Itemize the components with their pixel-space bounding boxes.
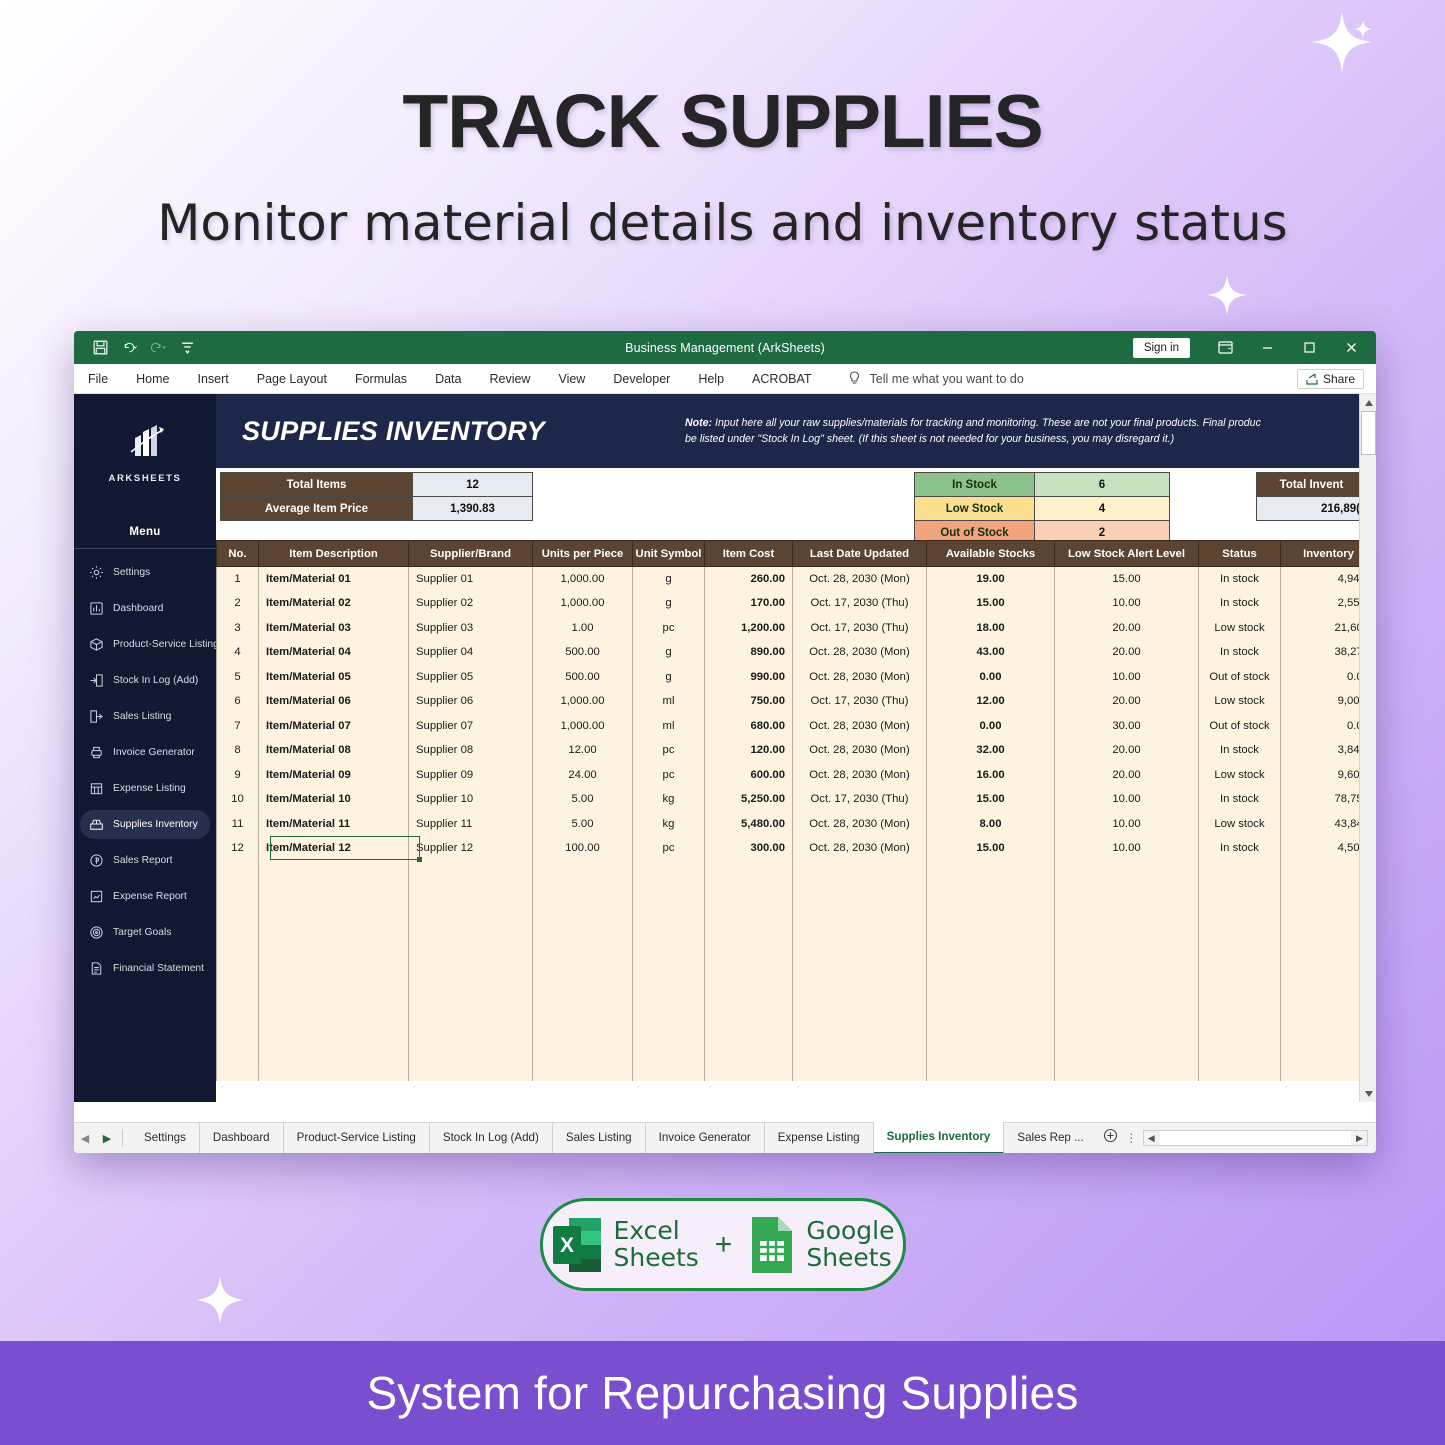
cell-item-description[interactable]: Item/Material 08 <box>259 738 409 763</box>
ribbon-tab-data[interactable]: Data <box>421 364 475 394</box>
cell-empty[interactable] <box>1199 861 1281 886</box>
cell-item-description[interactable]: Item/Material 02 <box>259 591 409 616</box>
sidebar-item-supplies-inventory[interactable]: Supplies Inventory <box>80 810 210 839</box>
cell-supplier[interactable]: Supplier 10 <box>409 787 533 812</box>
cell-status[interactable]: In stock <box>1199 738 1281 763</box>
cell-last-date-updated[interactable]: Oct. 28, 2030 (Mon) <box>793 640 927 665</box>
cell-empty[interactable] <box>1199 959 1281 984</box>
ribbon-tab-page-layout[interactable]: Page Layout <box>243 364 341 394</box>
cell-supplier[interactable]: Supplier 03 <box>409 616 533 641</box>
sheet-tab-stock-in-log[interactable]: Stock In Log (Add) <box>430 1123 553 1153</box>
cell-item-description[interactable]: Item/Material 11 <box>259 812 409 837</box>
table-row-empty[interactable] <box>217 1057 1377 1082</box>
col-header-supplier[interactable]: Supplier/Brand <box>409 541 533 567</box>
cell-empty[interactable] <box>217 1057 259 1082</box>
cell-empty[interactable] <box>409 861 533 886</box>
cell-item-cost[interactable]: 750.00 <box>705 689 793 714</box>
col-header-last-date-updated[interactable]: Last Date Updated <box>793 541 927 567</box>
cell-empty[interactable] <box>1199 1008 1281 1033</box>
cell-empty[interactable] <box>217 934 259 959</box>
sheet-tab-dashboard[interactable]: Dashboard <box>200 1123 284 1153</box>
sidebar-item-invoice-generator[interactable]: Invoice Generator <box>80 738 210 767</box>
cell-item-cost[interactable]: 5,480.00 <box>705 812 793 837</box>
sidebar-item-target-goals[interactable]: Target Goals <box>80 918 210 947</box>
spreadsheet-grid[interactable]: No. Item Description Supplier/Brand Unit… <box>216 540 1376 1102</box>
ribbon-tab-insert[interactable]: Insert <box>184 364 243 394</box>
table-row[interactable]: 9Item/Material 09Supplier 0924.00pc600.0… <box>217 763 1377 788</box>
cell-units-per-piece[interactable]: 100.00 <box>533 836 633 861</box>
cell-empty[interactable] <box>1055 910 1199 935</box>
cell-last-date-updated[interactable]: Oct. 28, 2030 (Mon) <box>793 836 927 861</box>
cell-last-date-updated[interactable]: Oct. 28, 2030 (Mon) <box>793 812 927 837</box>
cell-last-date-updated[interactable]: Oct. 28, 2030 (Mon) <box>793 738 927 763</box>
cell-supplier[interactable]: Supplier 09 <box>409 763 533 788</box>
cell-no[interactable]: 8 <box>217 738 259 763</box>
cell-item-cost[interactable]: 300.00 <box>705 836 793 861</box>
cell-empty[interactable] <box>927 885 1055 910</box>
sidebar-item-financial-statement[interactable]: Financial Statement <box>80 954 210 983</box>
cell-no[interactable]: 1 <box>217 567 259 592</box>
cell-unit-symbol[interactable]: pc <box>633 738 705 763</box>
cell-units-per-piece[interactable]: 1,000.00 <box>533 567 633 592</box>
cell-unit-symbol[interactable]: ml <box>633 689 705 714</box>
table-row-empty[interactable] <box>217 910 1377 935</box>
cell-empty[interactable] <box>217 1032 259 1057</box>
sheet-tab-invoice-generator[interactable]: Invoice Generator <box>646 1123 765 1153</box>
col-header-units-per-piece[interactable]: Units per Piece <box>533 541 633 567</box>
ribbon-tab-acrobat[interactable]: ACROBAT <box>738 364 826 394</box>
cell-supplier[interactable]: Supplier 02 <box>409 591 533 616</box>
sign-in-button[interactable]: Sign in <box>1133 338 1190 358</box>
cell-item-cost[interactable]: 600.00 <box>705 763 793 788</box>
cell-empty[interactable] <box>217 959 259 984</box>
ribbon-tab-developer[interactable]: Developer <box>599 364 684 394</box>
cell-empty[interactable] <box>259 910 409 935</box>
cell-empty[interactable] <box>793 885 927 910</box>
col-header-available-stocks[interactable]: Available Stocks <box>927 541 1055 567</box>
cell-empty[interactable] <box>1055 885 1199 910</box>
cell-low-stock-alert-level[interactable]: 10.00 <box>1055 787 1199 812</box>
cell-empty[interactable] <box>793 983 927 1008</box>
cell-units-per-piece[interactable]: 500.00 <box>533 640 633 665</box>
ribbon-tab-home[interactable]: Home <box>122 364 183 394</box>
cell-item-cost[interactable]: 1,200.00 <box>705 616 793 641</box>
minimize-button[interactable] <box>1246 331 1288 364</box>
table-row-empty[interactable] <box>217 861 1377 886</box>
sidebar-item-label: Dashboard <box>113 603 163 614</box>
col-header-no[interactable]: No. <box>217 541 259 567</box>
cell-no[interactable]: 6 <box>217 689 259 714</box>
table-row[interactable]: 1Item/Material 01Supplier 011,000.00g260… <box>217 567 1377 592</box>
cell-item-description[interactable]: Item/Material 04 <box>259 640 409 665</box>
cell-empty[interactable] <box>633 959 705 984</box>
ribbon-tab-help[interactable]: Help <box>684 364 738 394</box>
cell-empty[interactable] <box>1199 1057 1281 1082</box>
cell-item-description[interactable]: Item/Material 05 <box>259 665 409 690</box>
cell-last-date-updated[interactable]: Oct. 28, 2030 (Mon) <box>793 665 927 690</box>
table-row[interactable]: 10Item/Material 10Supplier 105.00kg5,250… <box>217 787 1377 812</box>
cell-no[interactable]: 10 <box>217 787 259 812</box>
cell-item-description[interactable]: Item/Material 01 <box>259 567 409 592</box>
cell-last-date-updated[interactable]: Oct. 17, 2030 (Thu) <box>793 616 927 641</box>
cell-units-per-piece[interactable]: 1,000.00 <box>533 591 633 616</box>
cell-item-cost[interactable]: 890.00 <box>705 640 793 665</box>
cell-item-cost[interactable]: 170.00 <box>705 591 793 616</box>
cell-status[interactable]: Low stock <box>1199 763 1281 788</box>
cell-item-cost[interactable]: 990.00 <box>705 665 793 690</box>
cell-unit-symbol[interactable]: pc <box>633 836 705 861</box>
cell-units-per-piece[interactable]: 5.00 <box>533 812 633 837</box>
table-row[interactable]: 3Item/Material 03Supplier 031.00pc1,200.… <box>217 616 1377 641</box>
cell-item-cost[interactable]: 680.00 <box>705 714 793 739</box>
cell-empty[interactable] <box>705 861 793 886</box>
table-row[interactable]: 6Item/Material 06Supplier 061,000.00ml75… <box>217 689 1377 714</box>
cell-units-per-piece[interactable]: 12.00 <box>533 738 633 763</box>
hscroll-right-button[interactable]: ▶ <box>1352 1133 1367 1144</box>
table-row[interactable]: 2Item/Material 02Supplier 021,000.00g170… <box>217 591 1377 616</box>
cell-supplier[interactable]: Supplier 11 <box>409 812 533 837</box>
cell-no[interactable]: 12 <box>217 836 259 861</box>
table-row-empty[interactable] <box>217 1008 1377 1033</box>
cell-low-stock-alert-level[interactable]: 20.00 <box>1055 738 1199 763</box>
sheet-tab-expense-listing[interactable]: Expense Listing <box>765 1123 874 1153</box>
cell-low-stock-alert-level[interactable]: 10.00 <box>1055 665 1199 690</box>
col-header-unit-symbol[interactable]: Unit Symbol <box>633 541 705 567</box>
cell-last-date-updated[interactable]: Oct. 17, 2030 (Thu) <box>793 689 927 714</box>
average-item-price-value: 1,390.83 <box>413 497 533 521</box>
cell-status[interactable]: In stock <box>1199 836 1281 861</box>
cell-available-stocks[interactable]: 0.00 <box>927 714 1055 739</box>
cell-empty[interactable] <box>633 1032 705 1057</box>
cell-empty[interactable] <box>927 1008 1055 1033</box>
scroll-down-button[interactable] <box>1360 1085 1376 1102</box>
cell-empty[interactable] <box>409 910 533 935</box>
hscroll-left-button[interactable]: ◀ <box>1144 1133 1159 1144</box>
cell-empty[interactable] <box>1055 983 1199 1008</box>
cell-available-stocks[interactable]: 32.00 <box>927 738 1055 763</box>
cell-empty[interactable] <box>1199 983 1281 1008</box>
sidebar-item-sales-listing[interactable]: Sales Listing <box>80 702 210 731</box>
cell-item-description[interactable]: Item/Material 07 <box>259 714 409 739</box>
cell-empty[interactable] <box>217 861 259 886</box>
cell-empty[interactable] <box>259 1032 409 1057</box>
close-button[interactable] <box>1330 331 1372 364</box>
cell-item-description[interactable]: Item/Material 12 <box>259 836 409 861</box>
ribbon-tab-file[interactable]: File <box>74 364 122 394</box>
cell-empty[interactable] <box>1055 934 1199 959</box>
cell-empty[interactable] <box>259 1057 409 1082</box>
sidebar-item-expense-report[interactable]: Expense Report <box>80 882 210 911</box>
cell-status[interactable]: Low stock <box>1199 689 1281 714</box>
tell-me-search[interactable]: Tell me what you want to do <box>848 371 1024 386</box>
cell-unit-symbol[interactable]: pc <box>633 616 705 641</box>
cell-empty[interactable] <box>409 1008 533 1033</box>
cell-empty[interactable] <box>1055 1008 1199 1033</box>
cell-empty[interactable] <box>927 1032 1055 1057</box>
cell-status[interactable]: In stock <box>1199 591 1281 616</box>
cell-empty[interactable] <box>793 1057 927 1082</box>
cell-empty[interactable] <box>533 910 633 935</box>
cell-last-date-updated[interactable]: Oct. 28, 2030 (Mon) <box>793 763 927 788</box>
cell-supplier[interactable]: Supplier 08 <box>409 738 533 763</box>
table-row-empty[interactable] <box>217 1032 1377 1057</box>
cell-low-stock-alert-level[interactable]: 20.00 <box>1055 689 1199 714</box>
ribbon-tab-review[interactable]: Review <box>475 364 544 394</box>
vertical-scroll-thumb[interactable] <box>1361 411 1376 455</box>
cell-available-stocks[interactable]: 12.00 <box>927 689 1055 714</box>
cell-available-stocks[interactable]: 15.00 <box>927 591 1055 616</box>
cell-empty[interactable] <box>217 1008 259 1033</box>
sheet-tab-supplies-inventory[interactable]: Supplies Inventory <box>874 1122 1005 1153</box>
cell-no[interactable]: 2 <box>217 591 259 616</box>
ribbon-tabbar: File Home Insert Page Layout Formulas Da… <box>74 364 1376 394</box>
cell-empty[interactable] <box>633 934 705 959</box>
cell-empty[interactable] <box>793 1032 927 1057</box>
cell-supplier[interactable]: Supplier 07 <box>409 714 533 739</box>
cell-status[interactable]: In stock <box>1199 640 1281 665</box>
cell-empty[interactable] <box>633 983 705 1008</box>
cell-empty[interactable] <box>705 1008 793 1033</box>
vertical-scrollbar[interactable] <box>1359 394 1376 1102</box>
cell-status[interactable]: Out of stock <box>1199 665 1281 690</box>
average-item-price-label: Average Item Price <box>221 497 413 521</box>
sheet-tab-product-service-listing[interactable]: Product-Service Listing <box>284 1123 430 1153</box>
cell-units-per-piece[interactable]: 24.00 <box>533 763 633 788</box>
cell-unit-symbol[interactable]: g <box>633 591 705 616</box>
cell-empty[interactable] <box>217 885 259 910</box>
chart-bar-icon <box>89 601 104 616</box>
sheet-tab-sales-listing[interactable]: Sales Listing <box>553 1123 646 1153</box>
cell-empty[interactable] <box>533 1032 633 1057</box>
cell-units-per-piece[interactable]: 500.00 <box>533 665 633 690</box>
table-row-empty[interactable] <box>217 885 1377 910</box>
table-row[interactable]: 4Item/Material 04Supplier 04500.00g890.0… <box>217 640 1377 665</box>
table-row[interactable]: 7Item/Material 07Supplier 071,000.00ml68… <box>217 714 1377 739</box>
cell-empty[interactable] <box>533 983 633 1008</box>
cell-empty[interactable] <box>793 861 927 886</box>
cell-empty[interactable] <box>633 861 705 886</box>
col-header-item-cost[interactable]: Item Cost <box>705 541 793 567</box>
cell-empty[interactable] <box>705 959 793 984</box>
cell-empty[interactable] <box>633 885 705 910</box>
cell-empty[interactable] <box>927 983 1055 1008</box>
ribbon-tab-formulas[interactable]: Formulas <box>341 364 421 394</box>
cell-empty[interactable] <box>705 983 793 1008</box>
cell-item-cost[interactable]: 120.00 <box>705 738 793 763</box>
cell-empty[interactable] <box>533 1057 633 1082</box>
cell-empty[interactable] <box>705 885 793 910</box>
share-button[interactable]: Share <box>1297 369 1364 389</box>
cell-low-stock-alert-level[interactable]: 10.00 <box>1055 836 1199 861</box>
cell-item-description[interactable]: Item/Material 09 <box>259 763 409 788</box>
table-row-empty[interactable] <box>217 983 1377 1008</box>
cell-item-cost[interactable]: 260.00 <box>705 567 793 592</box>
cell-available-stocks[interactable]: 43.00 <box>927 640 1055 665</box>
sheet-note: Note: Input here all your raw supplies/m… <box>685 415 1261 448</box>
cell-empty[interactable] <box>533 1008 633 1033</box>
sidebar-item-settings[interactable]: Settings <box>80 558 210 587</box>
cell-no[interactable]: 7 <box>217 714 259 739</box>
cell-last-date-updated[interactable]: Oct. 28, 2030 (Mon) <box>793 714 927 739</box>
table-row[interactable]: 8Item/Material 08Supplier 0812.00pc120.0… <box>217 738 1377 763</box>
cell-low-stock-alert-level[interactable]: 15.00 <box>1055 567 1199 592</box>
table-row[interactable]: 11Item/Material 11Supplier 115.00kg5,480… <box>217 812 1377 837</box>
cell-no[interactable]: 4 <box>217 640 259 665</box>
cell-last-date-updated[interactable]: Oct. 28, 2030 (Mon) <box>793 567 927 592</box>
table-row-empty[interactable] <box>217 959 1377 984</box>
cell-no[interactable]: 5 <box>217 665 259 690</box>
cell-supplier[interactable]: Supplier 01 <box>409 567 533 592</box>
table-row[interactable]: 5Item/Material 05Supplier 05500.00g990.0… <box>217 665 1377 690</box>
cell-supplier[interactable]: Supplier 12 <box>409 836 533 861</box>
cell-supplier[interactable]: Supplier 05 <box>409 665 533 690</box>
cell-available-stocks[interactable]: 0.00 <box>927 665 1055 690</box>
cell-supplier[interactable]: Supplier 06 <box>409 689 533 714</box>
sidebar-item-sales-report[interactable]: Sales Report <box>80 846 210 875</box>
sidebar-item-label: Financial Statement <box>113 963 204 974</box>
cell-empty[interactable] <box>793 1008 927 1033</box>
cell-empty[interactable] <box>1199 1032 1281 1057</box>
cell-empty[interactable] <box>1055 1032 1199 1057</box>
cell-empty[interactable] <box>259 885 409 910</box>
cell-empty[interactable] <box>533 934 633 959</box>
cell-no[interactable]: 9 <box>217 763 259 788</box>
cell-item-description[interactable]: Item/Material 10 <box>259 787 409 812</box>
cell-low-stock-alert-level[interactable]: 10.00 <box>1055 591 1199 616</box>
scroll-up-button[interactable] <box>1360 394 1376 411</box>
cell-units-per-piece[interactable]: 1,000.00 <box>533 689 633 714</box>
cell-available-stocks[interactable]: 15.00 <box>927 836 1055 861</box>
cell-empty[interactable] <box>1055 959 1199 984</box>
cell-available-stocks[interactable]: 8.00 <box>927 812 1055 837</box>
ribbon-display-options-icon[interactable] <box>1204 331 1246 364</box>
cell-unit-symbol[interactable]: g <box>633 665 705 690</box>
cell-empty[interactable] <box>217 910 259 935</box>
col-header-status[interactable]: Status <box>1199 541 1281 567</box>
cell-empty[interactable] <box>409 885 533 910</box>
cell-empty[interactable] <box>409 934 533 959</box>
col-header-item-description[interactable]: Item Description <box>259 541 409 567</box>
cell-item-description[interactable]: Item/Material 06 <box>259 689 409 714</box>
cell-low-stock-alert-level[interactable]: 30.00 <box>1055 714 1199 739</box>
cell-empty[interactable] <box>409 983 533 1008</box>
sidebar-item-dashboard[interactable]: Dashboard <box>80 594 210 623</box>
cell-empty[interactable] <box>633 910 705 935</box>
cell-low-stock-alert-level[interactable]: 10.00 <box>1055 812 1199 837</box>
cell-empty[interactable] <box>409 1057 533 1082</box>
cell-units-per-piece[interactable]: 1,000.00 <box>533 714 633 739</box>
cell-low-stock-alert-level[interactable]: 20.00 <box>1055 616 1199 641</box>
cell-available-stocks[interactable]: 19.00 <box>927 567 1055 592</box>
sidebar-item-product-service-listing[interactable]: Product-Service Listing <box>80 630 210 659</box>
cell-low-stock-alert-level[interactable]: 20.00 <box>1055 763 1199 788</box>
cell-empty[interactable] <box>793 934 927 959</box>
prev-sheet-button[interactable]: ◀ <box>74 1132 96 1145</box>
cell-status[interactable]: Low stock <box>1199 812 1281 837</box>
cell-empty[interactable] <box>633 1008 705 1033</box>
table-row-empty[interactable] <box>217 934 1377 959</box>
cell-no[interactable]: 11 <box>217 812 259 837</box>
cell-unit-symbol[interactable]: ml <box>633 714 705 739</box>
cell-empty[interactable] <box>409 1032 533 1057</box>
cell-empty[interactable] <box>259 861 409 886</box>
cell-available-stocks[interactable]: 15.00 <box>927 787 1055 812</box>
next-sheet-button[interactable]: ▶ <box>96 1132 118 1145</box>
cell-empty[interactable] <box>1199 934 1281 959</box>
cell-empty[interactable] <box>533 861 633 886</box>
cell-empty[interactable] <box>1199 910 1281 935</box>
cell-supplier[interactable]: Supplier 04 <box>409 640 533 665</box>
cell-item-description[interactable]: Item/Material 03 <box>259 616 409 641</box>
cell-available-stocks[interactable]: 16.00 <box>927 763 1055 788</box>
col-header-low-stock-alert-level[interactable]: Low Stock Alert Level <box>1055 541 1199 567</box>
cell-low-stock-alert-level[interactable]: 20.00 <box>1055 640 1199 665</box>
cell-unit-symbol[interactable]: kg <box>633 787 705 812</box>
cell-empty[interactable] <box>1055 1057 1199 1082</box>
cell-empty[interactable] <box>927 934 1055 959</box>
cell-empty[interactable] <box>633 1057 705 1082</box>
cell-empty[interactable] <box>927 861 1055 886</box>
sidebar-item-expense-listing[interactable]: Expense Listing <box>80 774 210 803</box>
cell-empty[interactable] <box>533 959 633 984</box>
add-sheet-button[interactable] <box>1097 1128 1125 1148</box>
cell-empty[interactable] <box>705 910 793 935</box>
cell-empty[interactable] <box>1055 861 1199 886</box>
cell-empty[interactable] <box>705 934 793 959</box>
maximize-button[interactable] <box>1288 331 1330 364</box>
sheet-tab-settings[interactable]: Settings <box>131 1123 200 1153</box>
cell-available-stocks[interactable]: 18.00 <box>927 616 1055 641</box>
cell-empty[interactable] <box>705 1057 793 1082</box>
cell-status[interactable]: Low stock <box>1199 616 1281 641</box>
cell-empty[interactable] <box>793 959 927 984</box>
cell-empty[interactable] <box>217 983 259 1008</box>
sheet-tab-sales-report[interactable]: Sales Rep ... <box>1004 1123 1096 1153</box>
cell-last-date-updated[interactable]: Oct. 17, 2030 (Thu) <box>793 787 927 812</box>
cell-last-date-updated[interactable]: Oct. 17, 2030 (Thu) <box>793 591 927 616</box>
cell-unit-symbol[interactable]: g <box>633 640 705 665</box>
horizontal-scrollbar[interactable]: ◀ ▶ <box>1143 1130 1368 1146</box>
cell-empty[interactable] <box>927 959 1055 984</box>
cell-status[interactable]: Out of stock <box>1199 714 1281 739</box>
cell-empty[interactable] <box>705 1032 793 1057</box>
cell-unit-symbol[interactable]: pc <box>633 763 705 788</box>
cell-unit-symbol[interactable]: g <box>633 567 705 592</box>
cell-empty[interactable] <box>927 1057 1055 1082</box>
cell-empty[interactable] <box>259 1008 409 1033</box>
cell-status[interactable]: In stock <box>1199 787 1281 812</box>
cell-units-per-piece[interactable]: 5.00 <box>533 787 633 812</box>
cell-empty[interactable] <box>259 959 409 984</box>
cell-empty[interactable] <box>927 910 1055 935</box>
cell-empty[interactable] <box>793 910 927 935</box>
cell-status[interactable]: In stock <box>1199 567 1281 592</box>
cell-no[interactable]: 3 <box>217 616 259 641</box>
cell-unit-symbol[interactable]: kg <box>633 812 705 837</box>
cell-empty[interactable] <box>409 959 533 984</box>
sheet-overflow-icon[interactable]: ⋮ <box>1125 1131 1139 1145</box>
horizontal-scroll-thumb[interactable] <box>1160 1131 1351 1145</box>
cell-item-cost[interactable]: 5,250.00 <box>705 787 793 812</box>
sidebar-item-stock-in-log[interactable]: Stock In Log (Add) <box>80 666 210 695</box>
cell-empty[interactable] <box>533 885 633 910</box>
ribbon-tab-view[interactable]: View <box>544 364 599 394</box>
cell-empty[interactable] <box>1199 885 1281 910</box>
cell-empty[interactable] <box>259 934 409 959</box>
table-row[interactable]: 12Item/Material 12Supplier 12100.00pc300… <box>217 836 1377 861</box>
cell-empty[interactable] <box>259 983 409 1008</box>
cell-units-per-piece[interactable]: 1.00 <box>533 616 633 641</box>
